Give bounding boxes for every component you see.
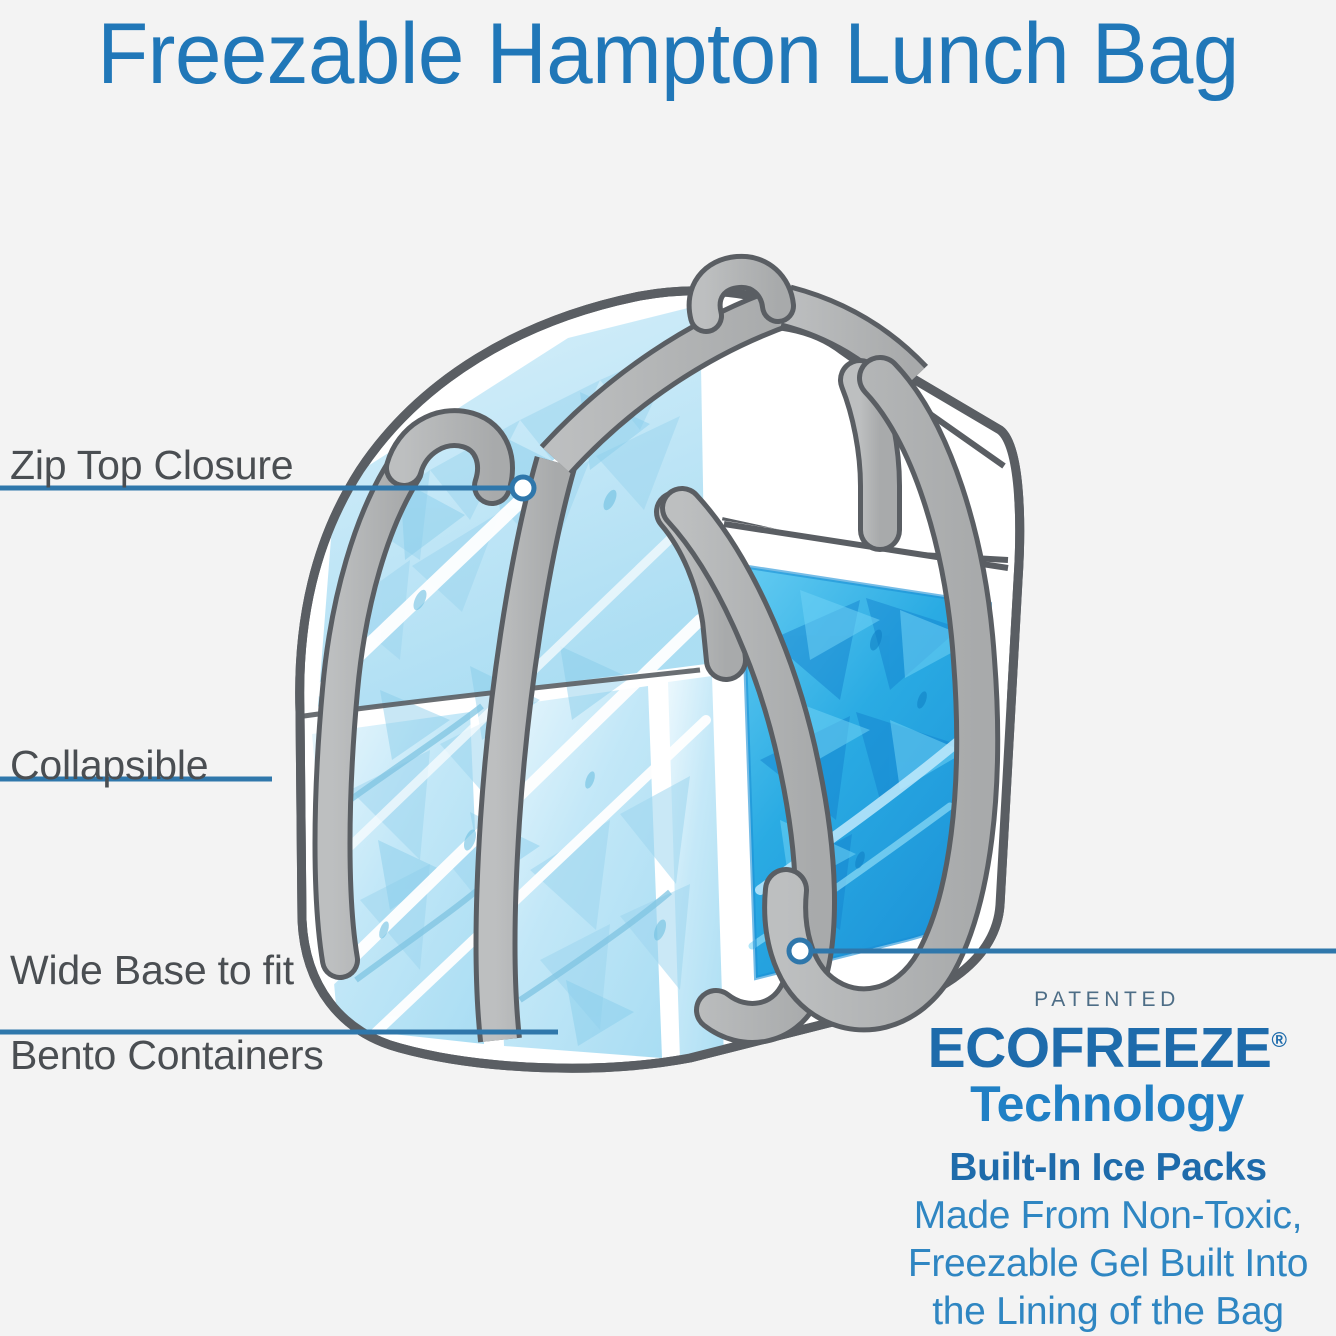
feature-line-2: Freezable Gel Built Into [888, 1240, 1328, 1288]
callout-zip-top-closure: Zip Top Closure [10, 405, 293, 527]
ecofreeze-name: ECOFREEZE® [928, 1020, 1287, 1077]
feature-line-1: Made From Non-Toxic, [888, 1192, 1328, 1240]
callout-wide-base: Wide Base to fit Bento Containers [10, 910, 324, 1116]
callout-wide-base-line2: Bento Containers [10, 1032, 324, 1080]
infographic-canvas: Freezable Hampton Lunch Bag [0, 0, 1336, 1336]
technology-word: Technology [892, 1077, 1322, 1131]
registered-trademark-icon: ® [1271, 1029, 1286, 1052]
callout-collapsible: Collapsible [10, 705, 208, 827]
feature-heading: Built-In Ice Packs [888, 1144, 1328, 1192]
ecofreeze-wordmark: ECOFREEZE® [892, 1020, 1322, 1077]
patented-label: PATENTED [892, 988, 1322, 1012]
ice-pack-feature-block: Built-In Ice Packs Made From Non-Toxic, … [888, 1144, 1328, 1336]
freezable-lunch-bag-illustration [0, 0, 1336, 1336]
callout-wide-base-line1: Wide Base to fit [10, 947, 324, 995]
ecofreeze-name-text: ECOFREEZE [928, 1016, 1272, 1080]
ecofreeze-brand-block: PATENTED ECOFREEZE® Technology [892, 988, 1322, 1131]
callout-zip-label: Zip Top Closure [10, 442, 293, 490]
feature-line-3: the Lining of the Bag [888, 1288, 1328, 1336]
callout-collapsible-label: Collapsible [10, 742, 208, 790]
